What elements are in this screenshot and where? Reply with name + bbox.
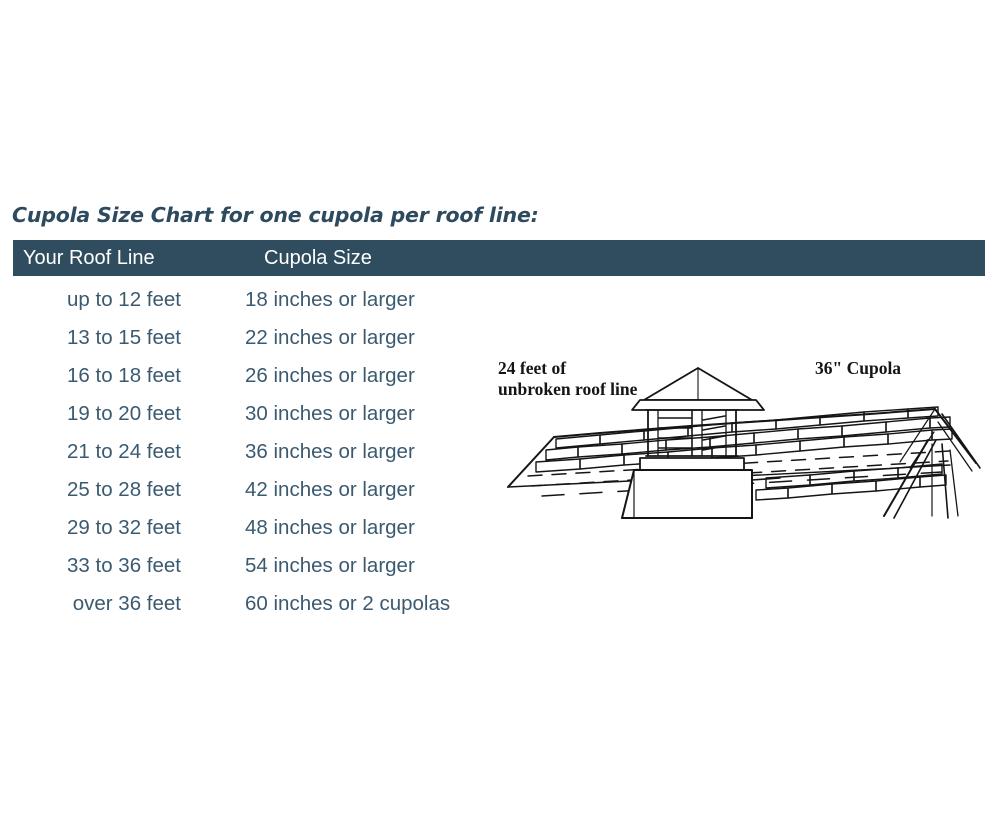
cell-cupola-size: 60 inches or 2 cupolas xyxy=(181,592,450,616)
table-row: 33 to 36 feet 54 inches or larger xyxy=(13,547,985,585)
cell-roof-line: 25 to 28 feet xyxy=(13,478,181,502)
cell-roof-line: 29 to 32 feet xyxy=(13,516,181,540)
cell-cupola-size: 54 inches or larger xyxy=(181,554,415,578)
cell-cupola-size: 22 inches or larger xyxy=(181,326,415,350)
cell-roof-line: over 36 feet xyxy=(13,592,181,616)
cell-roof-line: 33 to 36 feet xyxy=(13,554,181,578)
cell-cupola-size: 42 inches or larger xyxy=(181,478,415,502)
cell-cupola-size: 30 inches or larger xyxy=(181,402,415,426)
illustration-label-cupola: 36" Cupola xyxy=(815,358,901,379)
cell-roof-line: 19 to 20 feet xyxy=(13,402,181,426)
column-header-cupola-size: Cupola Size xyxy=(255,247,372,270)
cell-cupola-size: 26 inches or larger xyxy=(181,364,415,388)
cell-cupola-size: 18 inches or larger xyxy=(181,288,415,312)
cell-roof-line: 21 to 24 feet xyxy=(13,440,181,464)
cell-roof-line: 16 to 18 feet xyxy=(13,364,181,388)
cell-roof-line: 13 to 15 feet xyxy=(13,326,181,350)
cell-cupola-size: 36 inches or larger xyxy=(181,440,415,464)
table-header-row: Your Roof Line Cupola Size xyxy=(13,240,985,276)
cell-roof-line: up to 12 feet xyxy=(13,288,181,312)
table-row: over 36 feet 60 inches or 2 cupolas xyxy=(13,585,985,623)
illustration-label-roofline: 24 feet of unbroken roof line xyxy=(498,358,637,401)
page-title: Cupola Size Chart for one cupola per roo… xyxy=(12,203,539,227)
cell-cupola-size: 48 inches or larger xyxy=(181,516,415,540)
table-row: up to 12 feet 18 inches or larger xyxy=(13,281,985,319)
column-header-roof-line: Your Roof Line xyxy=(13,247,255,270)
